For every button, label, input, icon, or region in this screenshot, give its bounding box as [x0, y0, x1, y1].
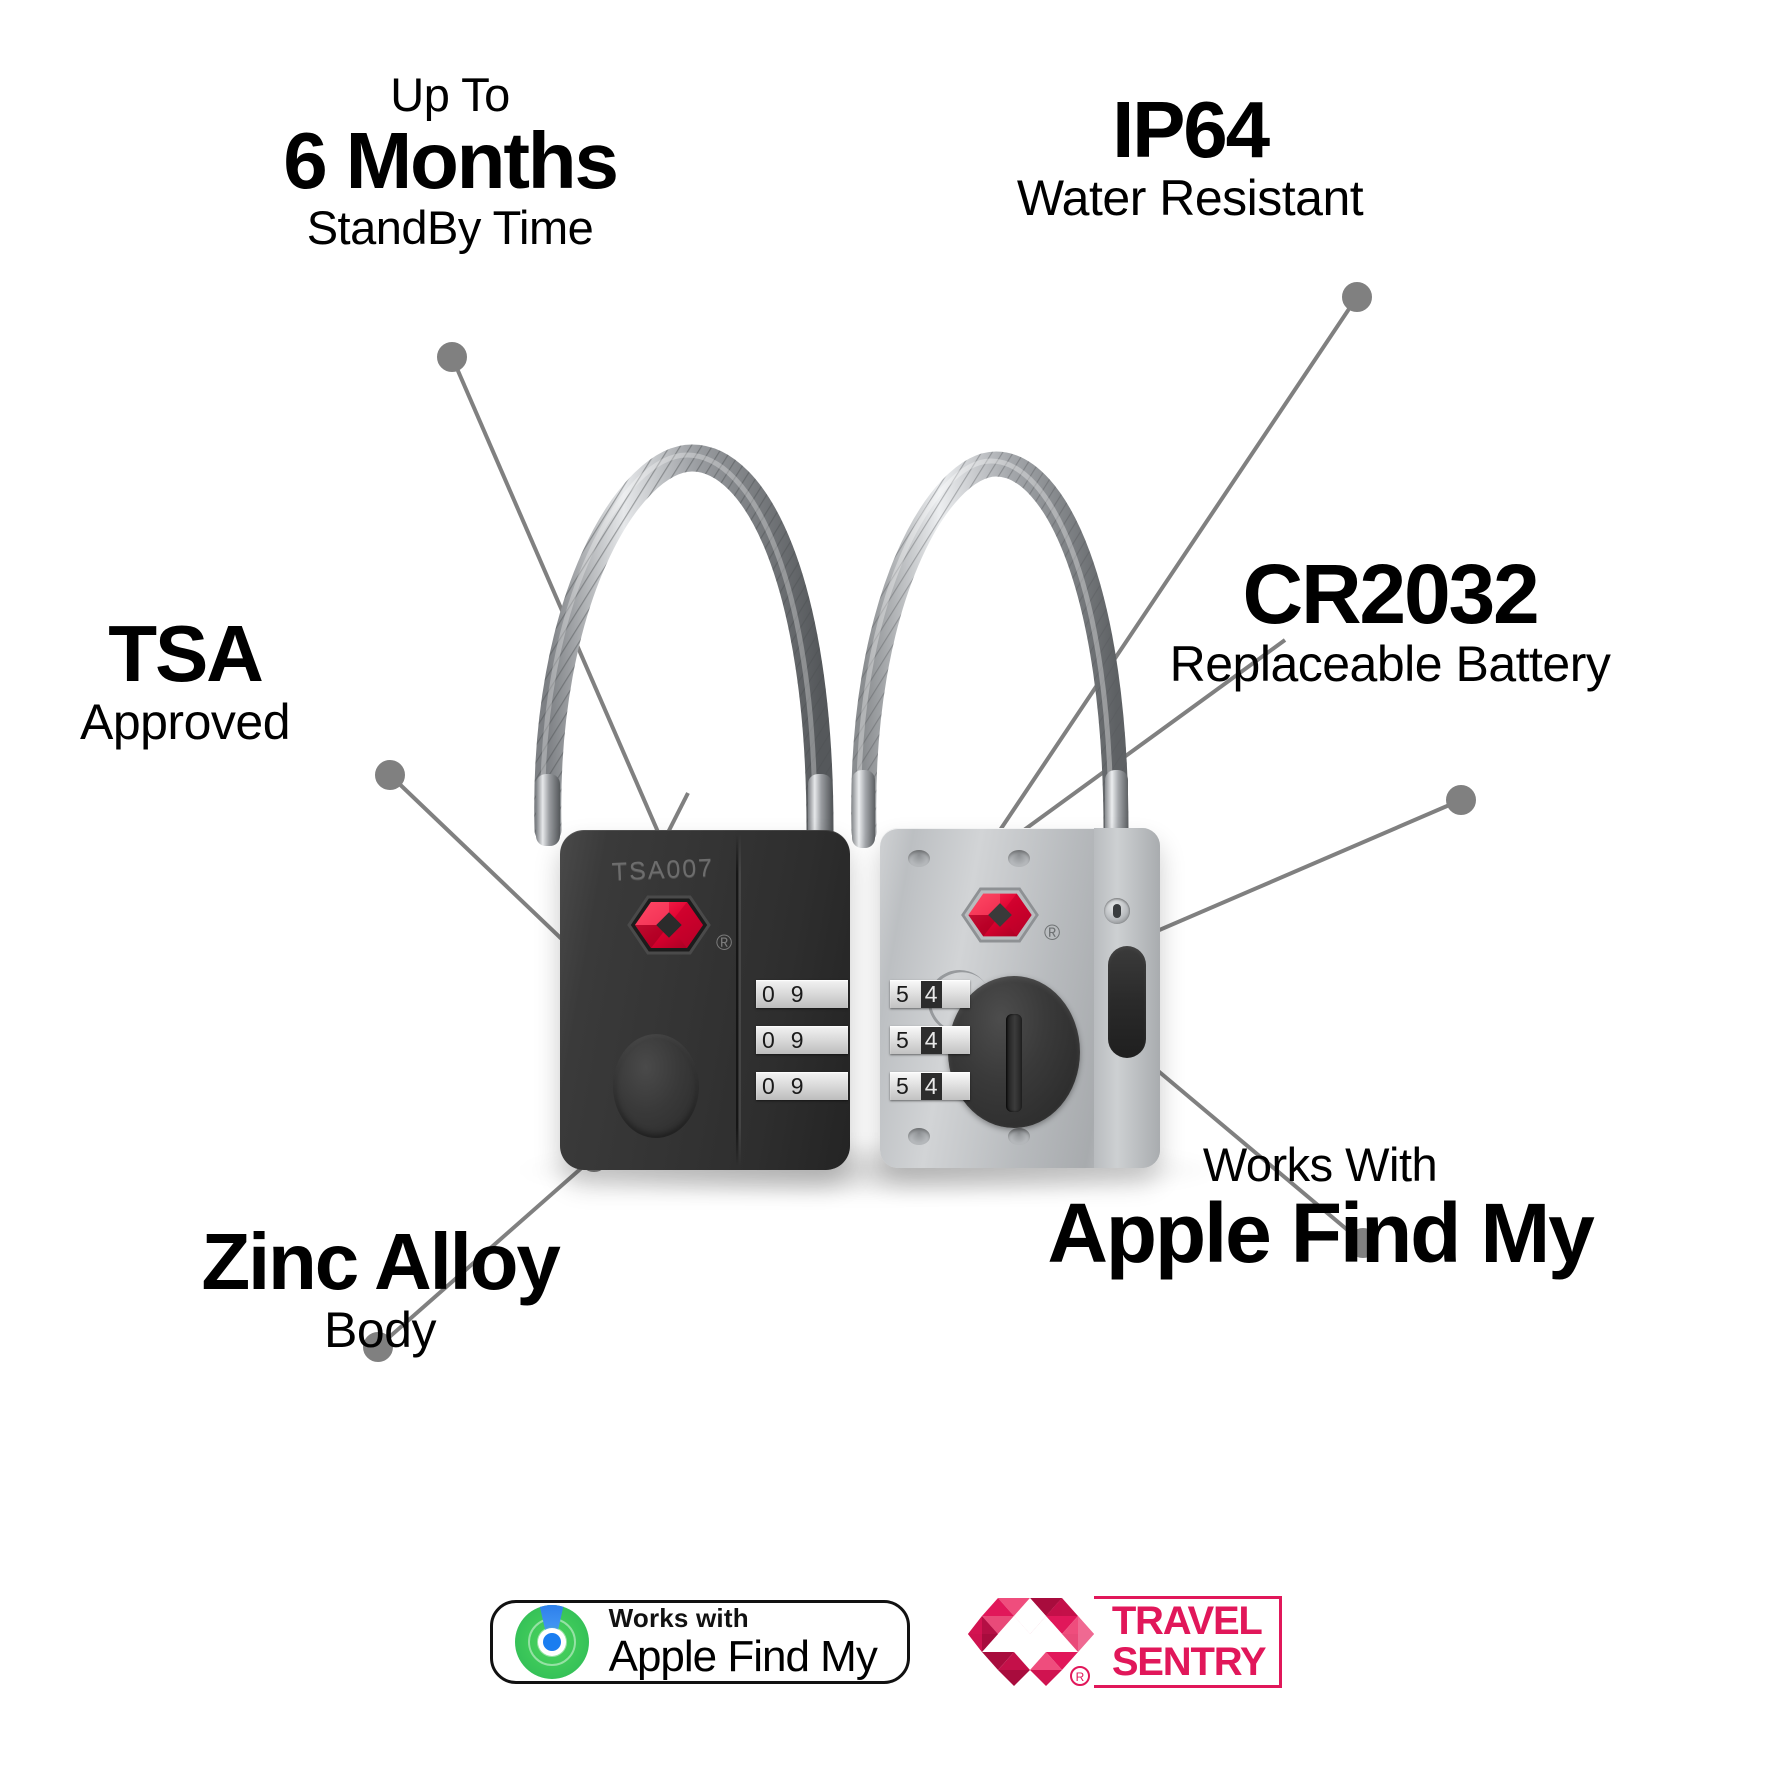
callout-apple-find-my: Works With Apple Find My — [980, 1140, 1660, 1278]
black-lock-cable — [520, 430, 840, 850]
black-lock-seam-highlight — [739, 834, 741, 1166]
callout-tsa-line2: TSA — [0, 612, 370, 696]
connector-dot-tsa — [377, 762, 403, 788]
tsa-diamond-icon-silver: ® — [960, 886, 1040, 944]
callout-findmy-line2: Apple Find My — [980, 1189, 1660, 1277]
dial-window: 09 — [756, 1072, 848, 1100]
screw-hole-top-left — [908, 850, 930, 867]
dial-row: 09 — [756, 1072, 842, 1100]
callout-ip64-line2: IP64 — [880, 88, 1500, 172]
dial-window: 09 — [756, 1026, 848, 1054]
callout-standby-time: Up To 6 Months StandBy Time — [110, 70, 790, 253]
callout-standby-line1: Up To — [110, 70, 790, 119]
callout-ip64-line3: Water Resistant — [880, 172, 1500, 225]
black-lock-dials[interactable]: 09 09 09 — [756, 980, 842, 1100]
connector-dot-cr2032 — [1448, 787, 1474, 813]
connector-dot-standby — [439, 344, 465, 370]
silver-lock-dials[interactable]: 54 54 54 — [890, 980, 964, 1100]
callout-zinc-line3: Body — [100, 1304, 660, 1357]
travel-sentry-wordmark: TRAVEL SENTRY — [1094, 1596, 1283, 1688]
tsa-registered-mark: ® — [716, 930, 732, 956]
black-lock-thumbpad[interactable] — [613, 1034, 699, 1138]
tsa-diamond-icon: ® — [626, 894, 712, 956]
screw-hole-top-right — [1008, 850, 1030, 867]
dial-digit: 9 — [791, 983, 804, 1006]
svg-text:R: R — [1075, 1670, 1084, 1684]
dial-digit: 9 — [791, 1075, 804, 1098]
dial-digit: 4 — [921, 1073, 942, 1100]
find-my-badge-text: Works with Apple Find My — [609, 1605, 877, 1679]
callout-ip64: IP64 Water Resistant — [880, 88, 1500, 225]
callout-cr2032: CR2032 Replaceable Battery — [1020, 550, 1760, 691]
travel-sentry-badge: R TRAVEL SENTRY — [966, 1596, 1283, 1688]
dial-digit: 0 — [762, 1075, 775, 1098]
dial-digit: 5 — [896, 1029, 909, 1052]
dial-row: 09 — [756, 1026, 842, 1054]
dial-window: 54 — [890, 980, 970, 1008]
callout-zinc-alloy: Zinc Alloy Body — [100, 1220, 660, 1357]
dial-row: 54 — [890, 1026, 964, 1054]
callout-cr2032-line3: Replaceable Battery — [1020, 638, 1760, 691]
silver-side-button[interactable] — [1108, 946, 1146, 1058]
callout-zinc-line2: Zinc Alloy — [100, 1220, 660, 1304]
dial-digit: 5 — [896, 1075, 909, 1098]
dial-row: 54 — [890, 1072, 964, 1100]
black-padlock: TSA007 ® — [560, 830, 850, 1170]
dial-window: 54 — [890, 1026, 970, 1054]
infographic-stage: TSA007 ® — [0, 0, 1772, 1772]
black-lock-seam — [736, 834, 738, 1166]
callout-tsa-line3: Approved — [0, 696, 370, 749]
dial-digit: 0 — [762, 983, 775, 1006]
dial-digit: 5 — [896, 983, 909, 1006]
dial-window: 09 — [756, 980, 848, 1008]
find-my-radar-icon — [515, 1605, 589, 1679]
travel-sentry-line1: TRAVEL — [1112, 1601, 1266, 1642]
dial-digit: 0 — [762, 1029, 775, 1052]
works-with-apple-find-my-badge: Works with Apple Find My — [490, 1600, 910, 1684]
travel-sentry-diamond-icon: R — [966, 1596, 1094, 1688]
callout-cr2032-line2: CR2032 — [1020, 550, 1760, 638]
callout-standby-line3: StandBy Time — [110, 203, 790, 252]
find-my-center-dot — [543, 1633, 561, 1651]
callout-standby-line2: 6 Months — [110, 119, 790, 203]
silver-padlock: ® 54 54 54 — [880, 828, 1160, 1168]
find-my-badge-line1: Works with — [609, 1605, 877, 1631]
dial-row: 54 — [890, 980, 964, 1008]
tsa-registered-mark-silver: ® — [1044, 920, 1060, 946]
travel-sentry-line2: SENTRY — [1112, 1642, 1266, 1683]
dial-digit: 4 — [921, 981, 942, 1008]
callout-findmy-line1: Works With — [980, 1140, 1660, 1189]
tsa007-engraving: TSA007 — [597, 853, 728, 888]
dial-window: 54 — [890, 1072, 970, 1100]
silver-keyhole[interactable] — [1104, 898, 1130, 924]
find-my-badge-line2: Apple Find My — [609, 1635, 877, 1679]
connector-dot-ip64 — [1344, 284, 1370, 310]
dial-digit: 4 — [921, 1027, 942, 1054]
silver-dial-slot — [1006, 1014, 1022, 1112]
certification-badges: Works with Apple Find My — [0, 1572, 1772, 1712]
dial-row: 09 — [756, 980, 842, 1008]
screw-hole-bottom-left — [908, 1128, 930, 1145]
dial-digit: 9 — [791, 1029, 804, 1052]
callout-tsa-approved: TSA Approved — [0, 612, 370, 749]
